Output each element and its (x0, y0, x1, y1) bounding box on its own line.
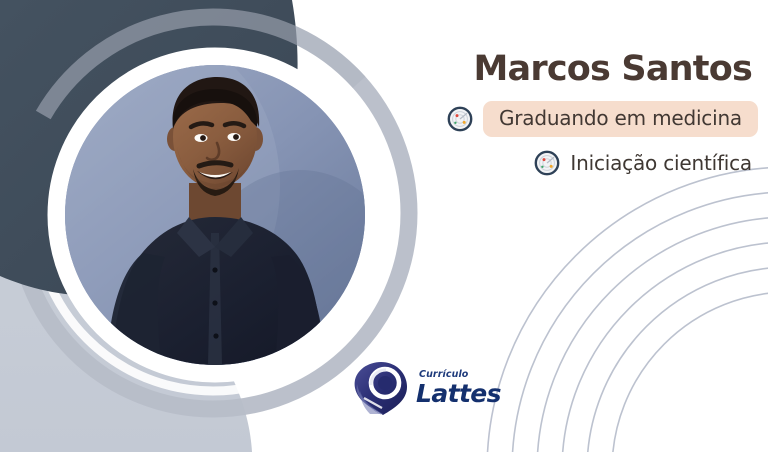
profile-photo-image (65, 65, 365, 365)
lattes-logo: Currículo Lattes (348, 358, 498, 420)
profile-card: Marcos Santos Graduando em medicina (0, 0, 768, 452)
credential-row-primary: Graduando em medicina (390, 101, 758, 137)
credential-badge-primary: Graduando em medicina (483, 101, 758, 137)
profile-photo (58, 58, 372, 372)
credential-row-secondary: Iniciação científica (390, 150, 758, 176)
radar-icon (534, 150, 560, 176)
credential-label-secondary: Iniciação científica (570, 153, 758, 174)
lattes-spiral-logo-icon (348, 358, 412, 420)
radar-icon (447, 106, 473, 132)
profile-info: Marcos Santos Graduando em medicina (390, 52, 758, 176)
page-title: Marcos Santos (390, 52, 752, 87)
lattes-wordmark: Currículo Lattes (416, 370, 501, 408)
lattes-title: Lattes (416, 381, 501, 406)
